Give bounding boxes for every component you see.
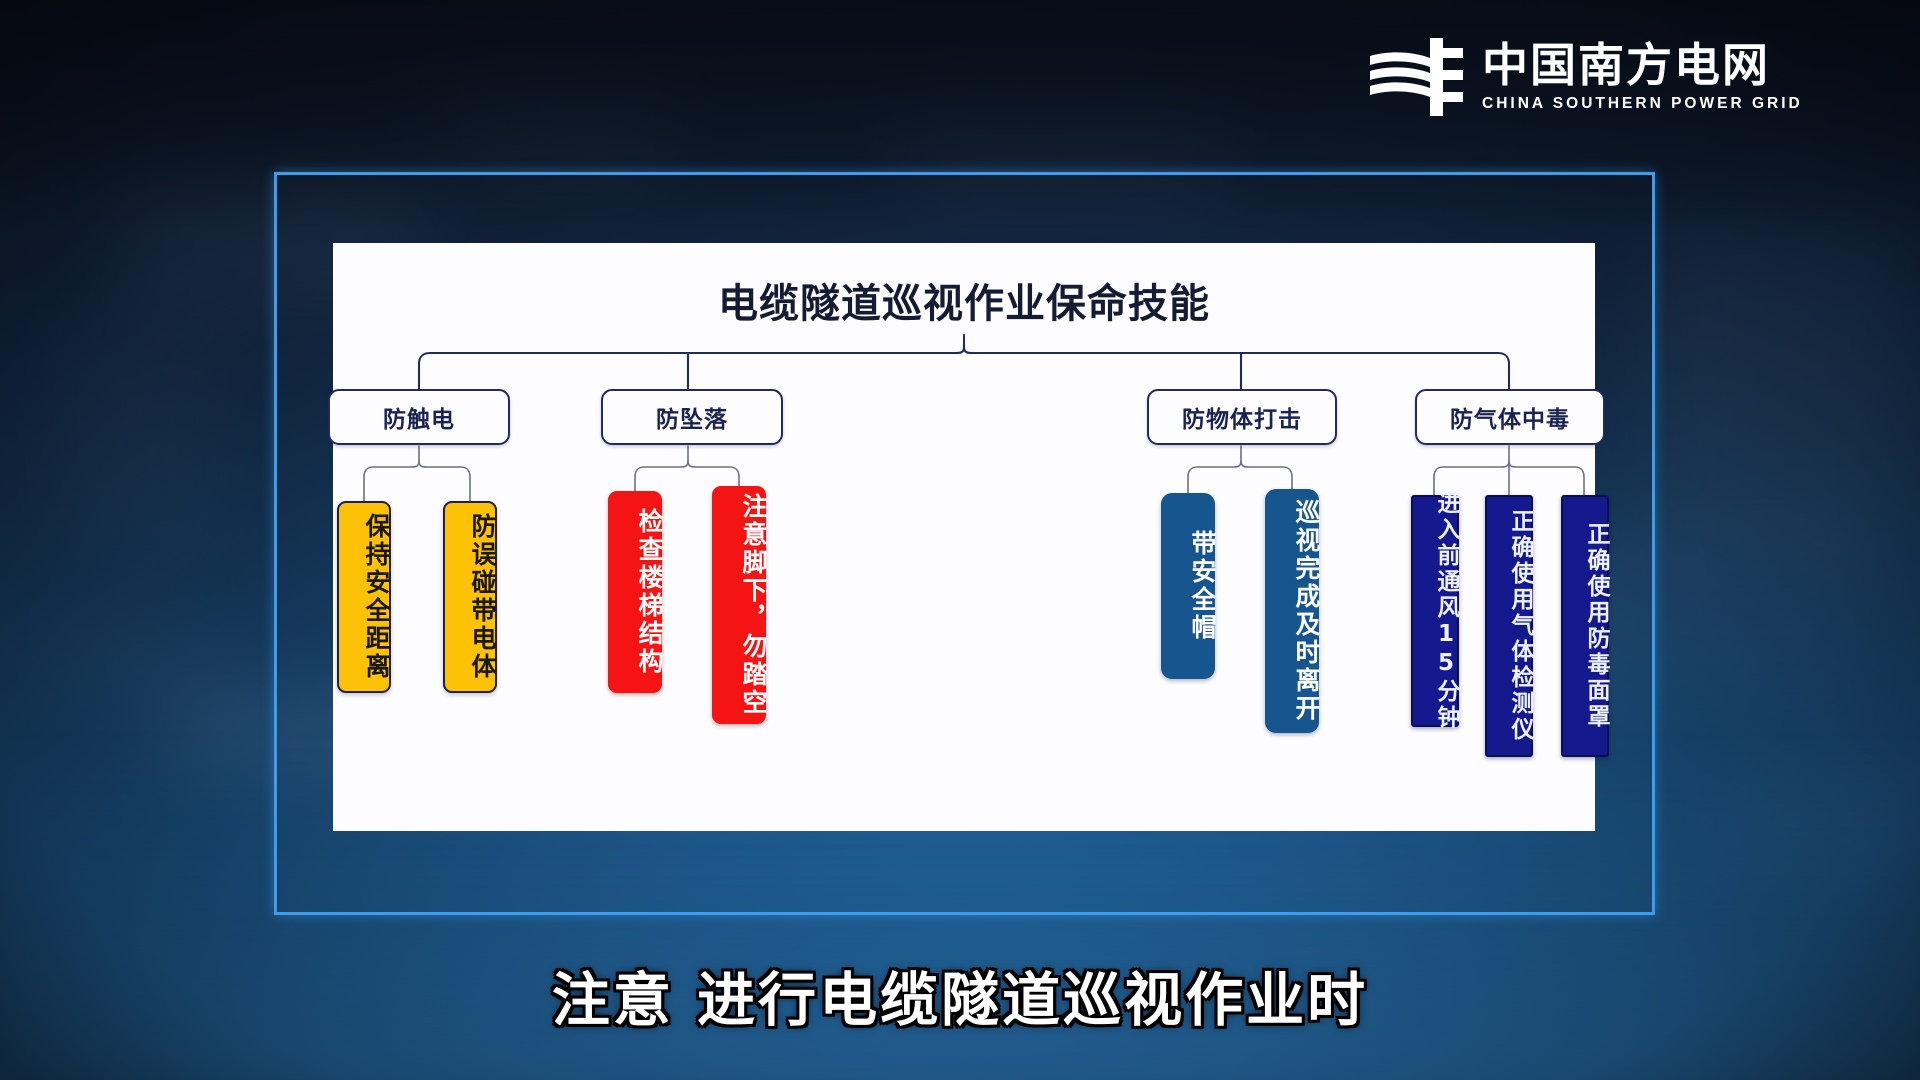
category-label: 防坠落 [656,400,728,434]
connector-lines [333,243,1595,831]
brand-name-en: CHINA SOUTHERN POWER GRID [1482,95,1803,113]
page-title: 电缆隧道巡视作业保命技能 [333,271,1595,329]
leaf-label: 进入前通风15分钟 [1434,491,1457,731]
leaf-watch-your-step[interactable]: 注意脚下，勿踏空 [712,486,766,724]
leaf-label: 正确使用防毒面罩 [1584,522,1607,730]
category-label: 防气体中毒 [1450,400,1570,434]
category-label: 防物体打击 [1182,400,1302,434]
brand-logo: 中国南方电网 CHINA SOUTHERN POWER GRID [1368,36,1803,118]
leaf-use-gas-mask[interactable]: 正确使用防毒面罩 [1561,495,1609,757]
leaf-label: 巡视完成及时离开 [1294,499,1319,723]
leaf-avoid-touching-live-parts[interactable]: 防误碰带电体 [443,501,497,693]
category-label: 防触电 [383,400,455,434]
leaf-check-stair-structure[interactable]: 检查楼梯结构 [608,491,662,693]
leaf-wear-helmet[interactable]: 带安全帽 [1161,493,1215,679]
safety-skills-tree: 电缆隧道巡视作业保命技能 [333,243,1595,831]
leaf-label: 保持安全距离 [364,513,389,681]
leaf-label: 带安全帽 [1190,530,1215,642]
category-box-fangqitizhongdu[interactable]: 防气体中毒 [1415,389,1605,445]
leaf-leave-promptly-after-inspection[interactable]: 巡视完成及时离开 [1265,489,1319,733]
leaf-label: 检查楼梯结构 [637,508,662,676]
leaf-keep-safe-distance[interactable]: 保持安全距离 [337,501,391,693]
subtitle-caption: 注意 进行电缆隧道巡视作业时 [0,953,1920,1037]
leaf-use-gas-detector[interactable]: 正确使用气体检测仪 [1485,495,1533,757]
category-box-fangchudian[interactable]: 防触电 [328,389,510,445]
leaf-label: 防误碰带电体 [470,513,495,681]
category-box-fangwutidaji[interactable]: 防物体打击 [1147,389,1337,445]
leaf-label: 正确使用气体检测仪 [1508,509,1531,743]
brand-name-cn: 中国南方电网 [1482,41,1770,89]
brand-logo-text: 中国南方电网 CHINA SOUTHERN POWER GRID [1482,41,1803,112]
category-box-fangzhuiluo[interactable]: 防坠落 [601,389,783,445]
leaf-label: 注意脚下，勿踏空 [741,493,766,717]
slide-stage: 中国南方电网 CHINA SOUTHERN POWER GRID 电缆隧道巡视作… [0,0,1920,1080]
leaf-ventilate-15-minutes[interactable]: 进入前通风15分钟 [1411,495,1459,727]
csg-grid-logo-icon [1368,36,1464,118]
diagram-card: 电缆隧道巡视作业保命技能 [333,243,1595,831]
